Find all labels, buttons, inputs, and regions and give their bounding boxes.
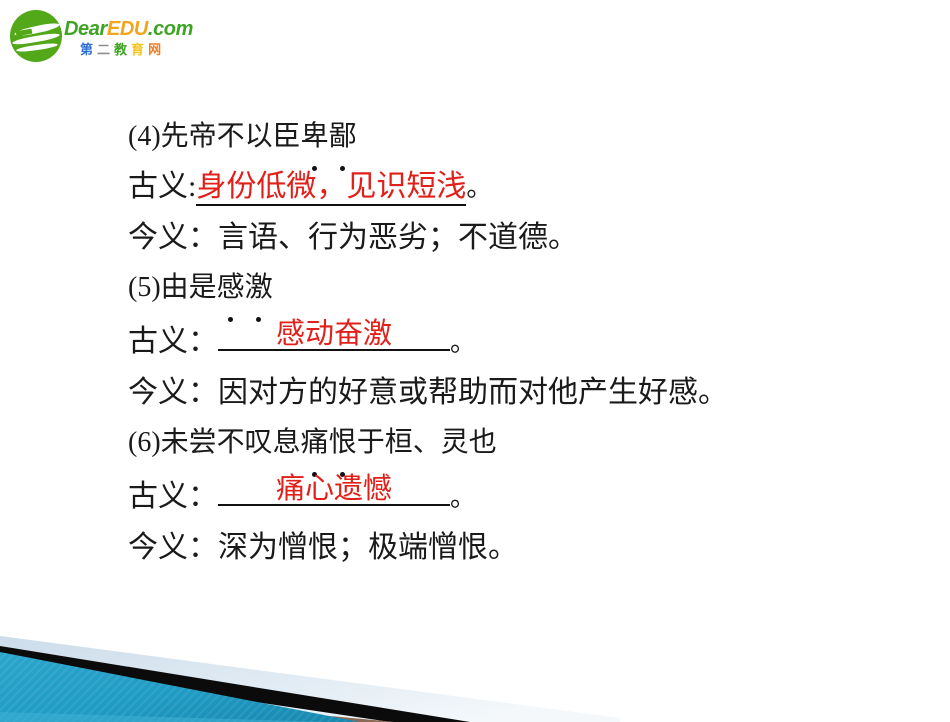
ancient-label-6: 古义： — [128, 480, 218, 513]
modern-label-5: 今义： — [128, 376, 218, 409]
banner-black-stripe — [0, 646, 470, 722]
ancient-label-4: 古义: — [128, 170, 196, 203]
banner-teal-texture — [0, 652, 360, 722]
emphasis-char: 卑 — [301, 112, 329, 162]
emphasis-char: 痛 — [301, 418, 329, 468]
entry-sentence-6: (6)未尝不叹息痛恨于桓、灵也 — [128, 418, 918, 468]
modern-label-4: 今义： — [128, 221, 218, 254]
ancient-meaning-5: 古义：感动奋激。 — [128, 313, 918, 368]
entry-sentence-post-6: 于桓、灵也 — [357, 427, 497, 458]
ancient-answer-5: 感动奋激 — [218, 309, 450, 359]
entry-emphasis-6: 痛恨 — [301, 418, 357, 468]
entry-number-5: (5) — [128, 272, 161, 303]
modern-meaning-6: 今义：深为憎恨；极端憎恨。 — [128, 523, 918, 573]
emphasis-char: 感 — [217, 263, 245, 313]
entry-sentence-pre-4: 先帝不以臣 — [161, 121, 301, 152]
logo-wordmark: DearEDU.com — [64, 18, 193, 41]
site-logo: DearEDU.com 第二教育网 — [8, 6, 198, 62]
entry-sentence-4: (4)先帝不以臣卑鄙 — [128, 112, 918, 162]
logo-word-com: .com — [148, 18, 193, 40]
modern-label-6: 今义： — [128, 531, 218, 564]
ancient-period-5: 。 — [450, 328, 476, 357]
logo-word-dear: Dear — [64, 18, 107, 40]
entry-sentence-pre-6: 未尝不叹息 — [161, 427, 301, 458]
emphasis-char: 鄙 — [329, 112, 357, 162]
banner-brown-sliver — [330, 716, 395, 722]
ancient-period-6: 。 — [450, 483, 476, 512]
logo-chinese-name: 第二教育网 — [80, 39, 165, 58]
ancient-meaning-6: 古义：痛心遗憾。 — [128, 468, 918, 523]
entry-number-6: (6) — [128, 427, 161, 458]
banner-pale-wedge — [0, 636, 620, 722]
banner-svg — [0, 590, 620, 722]
banner-teal-triangle — [0, 652, 360, 722]
globe-icon — [10, 10, 62, 62]
logo-cn-char-3: 教 — [114, 42, 131, 57]
banner-teal-highlight — [0, 712, 330, 722]
ancient-answer-6: 痛心遗憾 — [218, 464, 450, 514]
entry-sentence-pre-5: 由是 — [161, 272, 217, 303]
slide-content: (4)先帝不以臣卑鄙 古义:身份低微，见识短浅。 今义：言语、行为恶劣；不道德。… — [128, 112, 918, 573]
modern-text-6: 深为憎恨；极端憎恨。 — [218, 531, 518, 564]
ancient-answer-4: 身份低微，见识短浅 — [196, 170, 466, 206]
entry-emphasis-5: 感激 — [217, 263, 273, 313]
entry-sentence-5: (5)由是感激 — [128, 263, 918, 313]
emphasis-char: 恨 — [329, 418, 357, 468]
modern-text-5: 因对方的好意或帮助而对他产生好感。 — [218, 376, 728, 409]
modern-meaning-5: 今义：因对方的好意或帮助而对他产生好感。 — [128, 368, 918, 418]
logo-word-edu: EDU — [107, 18, 148, 40]
logo-cn-char-1: 第 — [80, 42, 97, 57]
logo-cn-char-5: 网 — [148, 42, 165, 57]
ancient-label-5: 古义： — [128, 325, 218, 358]
modern-meaning-4: 今义：言语、行为恶劣；不道德。 — [128, 213, 918, 263]
logo-cn-char-2: 二 — [97, 42, 114, 57]
ancient-answer-blank-6: 痛心遗憾 — [218, 468, 450, 506]
entry-number-4: (4) — [128, 121, 161, 152]
modern-text-4: 言语、行为恶劣；不道德。 — [218, 221, 578, 254]
emphasis-char: 激 — [245, 263, 273, 313]
entry-emphasis-4: 卑鄙 — [301, 112, 357, 162]
logo-cn-char-4: 育 — [131, 42, 148, 57]
ancient-answer-blank-5: 感动奋激 — [218, 313, 450, 351]
ancient-meaning-4: 古义:身份低微，见识短浅。 — [128, 162, 918, 213]
ancient-period-4: 。 — [466, 173, 492, 202]
bottom-diagonal-banner — [0, 590, 620, 722]
